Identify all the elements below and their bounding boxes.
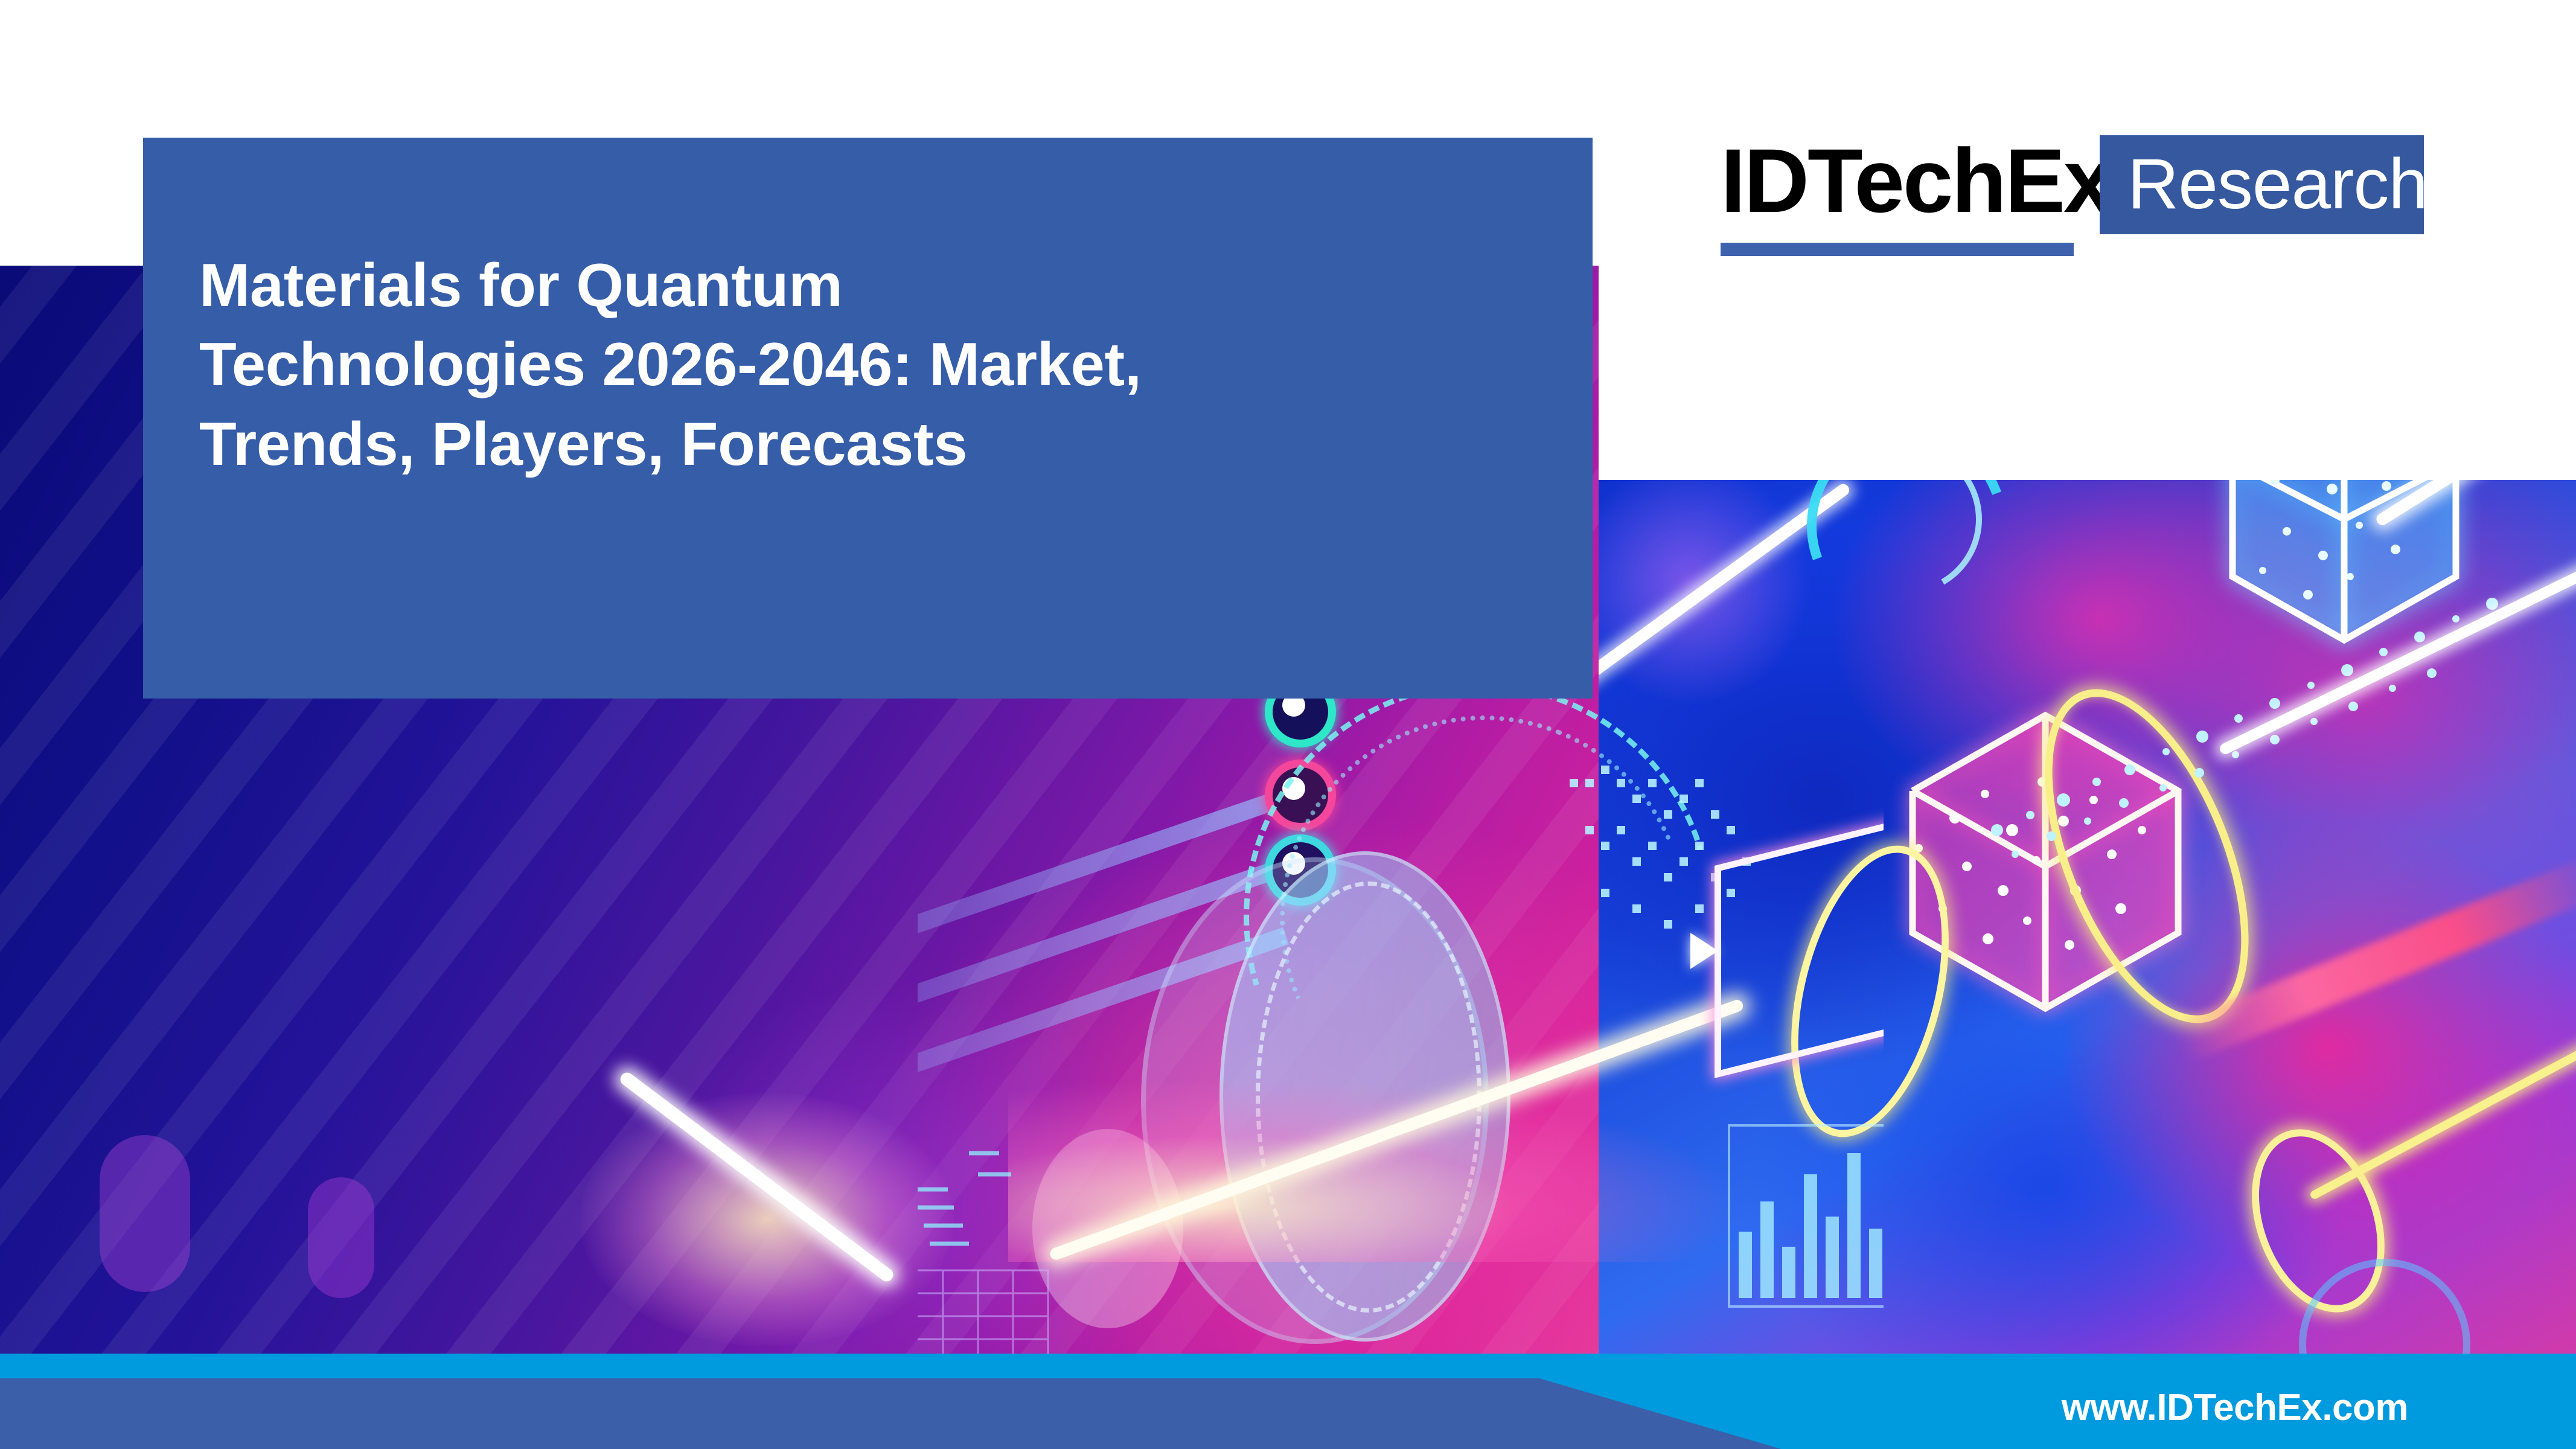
artwork-center-scene [918, 658, 1884, 1358]
report-cover-page: Materials for Quantum Technologies 2026-… [0, 0, 2576, 1449]
laser-beam-glow [580, 1093, 954, 1346]
logo-underline-bar [1721, 243, 2074, 256]
bar-chart-panel [1727, 1117, 1884, 1316]
logo-wordmark-wrap: IDTechEx [1721, 135, 2112, 226]
title-line-3: Trends, Players, Forecasts [199, 411, 967, 478]
purple-pill-blob [100, 1135, 190, 1292]
idtechex-logo[interactable]: IDTechEx [1721, 135, 2112, 226]
tick-marks [918, 1117, 1105, 1274]
particle-trail [1973, 540, 2516, 878]
grid-panel [918, 1268, 1050, 1358]
title-line-2: Technologies 2026-2046: Market, [199, 331, 1142, 398]
title-line-1: Materials for Quantum [199, 252, 843, 319]
logo-research-label: Research [2127, 149, 2427, 220]
play-triangle-icon [1690, 933, 1718, 969]
title-panel: Materials for Quantum Technologies 2026-… [143, 138, 1593, 699]
page-title: Materials for Quantum Technologies 2026-… [199, 246, 1497, 484]
purple-pill-blob [308, 1177, 374, 1298]
logo-research-badge[interactable]: Research [2100, 135, 2424, 234]
logo-wordmark: IDTechEx [1721, 135, 2112, 226]
artwork-white-step [1599, 266, 2576, 480]
footer-blue-band [0, 1378, 1781, 1449]
footer-website-url[interactable]: www.IDTechEx.com [2062, 1386, 2408, 1429]
